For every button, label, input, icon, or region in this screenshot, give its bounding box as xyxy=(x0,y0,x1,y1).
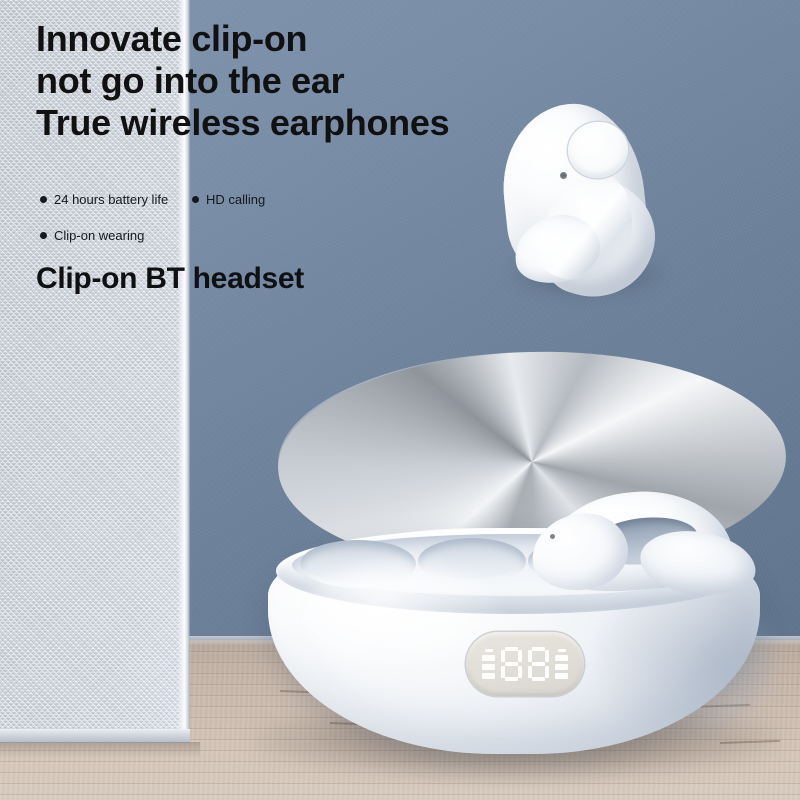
headline-line-1: Innovate clip-on xyxy=(36,18,556,60)
feature-item-hd-calling: HD calling xyxy=(192,192,265,207)
battery-bar xyxy=(482,655,495,661)
earbud-mic-hole-icon xyxy=(550,534,555,539)
battery-bar xyxy=(555,673,568,679)
battery-cap xyxy=(485,649,493,652)
product-banner: Innovate clip-on not go into the ear Tru… xyxy=(0,0,800,800)
case-body-shading xyxy=(600,580,770,740)
headline-line-3: True wireless earphones xyxy=(36,102,556,144)
baseboard-shadow xyxy=(0,742,200,758)
bullet-dot-icon xyxy=(40,232,47,239)
feature-label: 24 hours battery life xyxy=(54,192,168,207)
battery-bar xyxy=(555,655,568,661)
feature-item-battery: 24 hours battery life xyxy=(40,192,168,207)
led-battery-display xyxy=(466,632,584,696)
baseboard-left xyxy=(0,729,190,743)
led-digit-1 xyxy=(501,647,522,681)
battery-bar xyxy=(555,664,568,670)
feature-label: Clip-on wearing xyxy=(54,228,144,243)
battery-cap xyxy=(558,649,566,652)
bullet-dot-icon xyxy=(40,196,47,203)
feature-label: HD calling xyxy=(206,192,265,207)
feature-row-1: 24 hours battery life HD calling xyxy=(40,192,370,228)
headline: Innovate clip-on not go into the ear Tru… xyxy=(36,18,556,144)
feature-list: 24 hours battery life HD calling Clip-on… xyxy=(40,192,370,264)
feature-row-2: Clip-on wearing xyxy=(40,228,370,264)
led-digit-2 xyxy=(528,647,549,681)
battery-bar xyxy=(482,664,495,670)
battery-bar xyxy=(482,673,495,679)
feature-item-clip-on: Clip-on wearing xyxy=(40,228,144,243)
battery-icon-right xyxy=(555,649,568,679)
battery-icon-left xyxy=(482,649,495,679)
microphone-hole-icon xyxy=(560,172,567,179)
subheadline: Clip-on BT headset xyxy=(36,262,304,296)
earbud-in-case xyxy=(520,488,770,600)
headline-line-2: not go into the ear xyxy=(36,60,556,102)
bullet-dot-icon xyxy=(192,196,199,203)
